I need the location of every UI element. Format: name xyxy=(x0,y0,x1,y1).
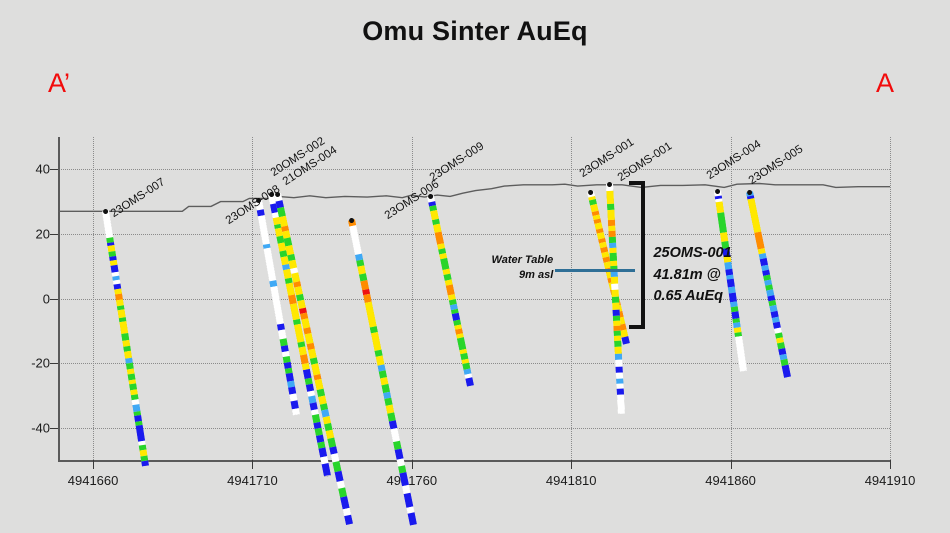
y-axis-tick-label: -20 xyxy=(31,356,50,371)
assay-interval xyxy=(322,463,331,477)
section-end-label-right: A xyxy=(876,70,894,97)
callout-grade: 0.65 AuEq xyxy=(653,286,731,308)
intercept-callout: 25OMS-001 41.81m @ 0.65 AuEq xyxy=(653,243,731,308)
x-axis-tick xyxy=(890,460,891,469)
callout-hole-id: 25OMS-001 xyxy=(653,243,731,265)
y-axis-tick-label: 0 xyxy=(43,291,50,306)
assay-interval xyxy=(617,395,625,414)
callout-interval: 41.81m @ xyxy=(653,265,731,287)
collar-marker xyxy=(607,181,612,186)
assay-interval xyxy=(607,210,614,220)
assay-interval xyxy=(610,253,617,261)
x-axis-tick-label: 4941710 xyxy=(227,473,278,488)
assay-interval xyxy=(403,493,413,508)
x-axis-tick-label: 4941660 xyxy=(68,473,119,488)
water-table-line2: 9m asl xyxy=(477,268,553,283)
y-axis-tick xyxy=(50,169,58,170)
water-table-annotation: Water Table 9m asl xyxy=(477,253,553,283)
section-end-label-left: A’ xyxy=(48,70,70,97)
gridline-vertical xyxy=(890,137,892,460)
x-axis-tick-label: 4941910 xyxy=(865,473,916,488)
cross-section-figure: Omu Sinter AuEq A’ A 40200-20-40 4941660… xyxy=(0,0,950,533)
y-axis-tick-label: 20 xyxy=(36,226,50,241)
water-table-line xyxy=(555,269,635,272)
y-axis-tick-label: 40 xyxy=(36,162,50,177)
topography-line xyxy=(58,184,890,212)
assay-interval xyxy=(292,408,300,416)
y-axis-tick-labels: 40200-20-40 xyxy=(6,137,50,462)
x-axis-tick-label: 4941760 xyxy=(387,473,438,488)
y-axis-tick xyxy=(50,299,58,300)
bracket-vertical xyxy=(641,181,645,329)
bracket-bottom-arm xyxy=(629,325,645,329)
x-axis-tick-label: 4941810 xyxy=(546,473,597,488)
water-table-line1: Water Table xyxy=(477,253,553,268)
assay-interval xyxy=(345,515,354,525)
assay-interval xyxy=(621,336,629,344)
assay-interval xyxy=(611,289,618,297)
page-title: Omu Sinter AuEq xyxy=(0,16,950,47)
plot-area: 40200-20-40 4941660494171049417604941810… xyxy=(58,137,890,462)
assay-interval xyxy=(407,513,416,526)
y-axis-tick xyxy=(50,363,58,364)
assay-interval xyxy=(142,461,150,467)
collar-marker xyxy=(348,217,354,223)
topography-profile xyxy=(58,137,890,462)
y-axis-tick xyxy=(50,234,58,235)
bracket-top-arm xyxy=(629,181,645,185)
y-axis-tick xyxy=(50,428,58,429)
y-axis-tick-label: -40 xyxy=(31,420,50,435)
x-axis-tick-label: 4941860 xyxy=(705,473,756,488)
collar-marker xyxy=(587,189,593,195)
assay-interval xyxy=(606,191,614,204)
